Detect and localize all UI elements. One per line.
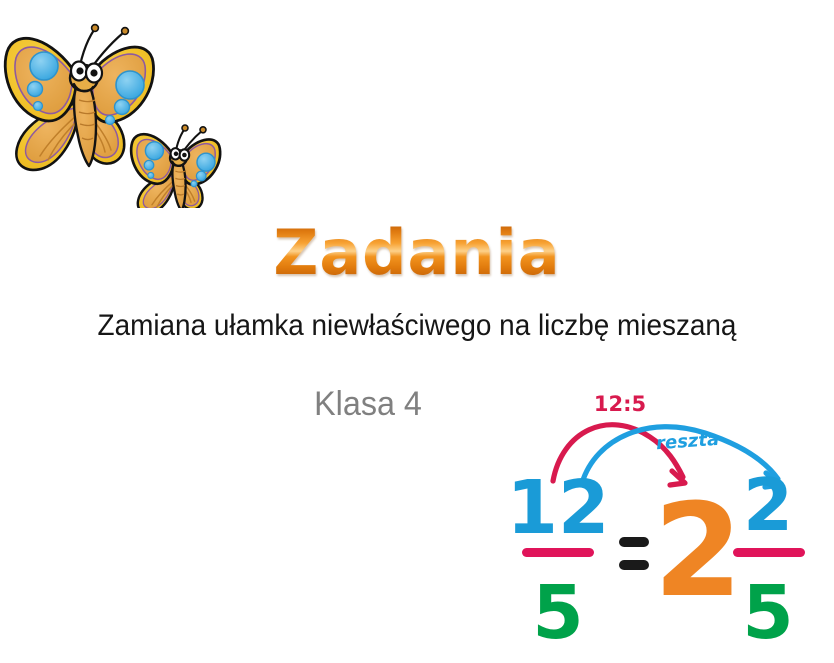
page-title: Zadania — [0, 222, 834, 284]
whole-number: 2 — [653, 477, 742, 626]
right-numerator: 2 — [743, 463, 793, 547]
left-fraction: 12 5 — [507, 465, 610, 656]
right-fraction-bar — [733, 548, 805, 557]
fraction-conversion-diagram: 12:5 reszta 12 5 2 2 5 — [500, 385, 834, 663]
page-subtitle: Zamiana ułamka niewłaściwego na liczbę m… — [29, 309, 805, 343]
butterflies-icon — [0, 8, 260, 208]
right-denominator: 5 — [742, 570, 794, 656]
left-fraction-bar — [522, 548, 594, 557]
left-denominator: 5 — [532, 570, 584, 656]
remainder-label: reszta — [655, 429, 719, 454]
butterflies-decoration — [0, 8, 260, 208]
equals-sign — [619, 537, 649, 570]
slide-canvas: Zadania Zamiana ułamka niewłaściwego na … — [0, 0, 834, 663]
divide-label: 12:5 — [594, 392, 646, 416]
right-fraction: 2 5 — [733, 463, 805, 656]
grade-label: Klasa 4 — [254, 385, 482, 424]
butterfly-small — [131, 125, 220, 208]
left-numerator: 12 — [507, 465, 610, 551]
